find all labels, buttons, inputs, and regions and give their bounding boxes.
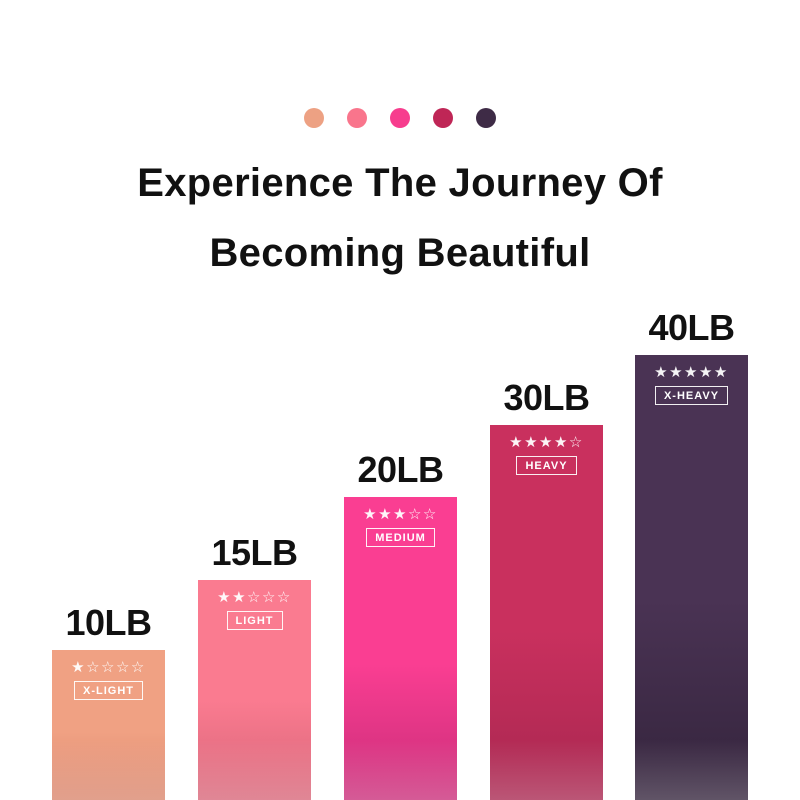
bar-badge: ★★☆☆☆LIGHT — [198, 590, 311, 630]
bar-bottom-fade — [344, 740, 457, 800]
bar-bottom-fade — [52, 740, 165, 800]
bar-bottom-fade — [635, 740, 748, 800]
product-infographic: Experience The Journey Of Becoming Beaut… — [0, 0, 800, 800]
bar-value-label: 10LB — [65, 602, 151, 644]
bar-badge: ★★★☆☆MEDIUM — [344, 507, 457, 547]
star-rating-icon: ★★☆☆☆ — [217, 590, 292, 606]
bar-value-label: 40LB — [648, 307, 734, 349]
bar-value-label: 30LB — [503, 377, 589, 419]
bar-group-heavy[interactable]: 30LB★★★★☆HEAVY — [490, 425, 603, 800]
bar-badge: ★★★★★X-HEAVY — [635, 365, 748, 405]
tier-label: X-HEAVY — [655, 386, 728, 405]
bar-group-medium[interactable]: 20LB★★★☆☆MEDIUM — [344, 497, 457, 800]
bar-value-label: 15LB — [211, 532, 297, 574]
bar-value-label: 20LB — [357, 449, 443, 491]
star-rating-icon: ★★★★☆ — [509, 435, 584, 451]
resistance-band-bar-chart: 10LB★☆☆☆☆X-LIGHT15LB★★☆☆☆LIGHT20LB★★★☆☆M… — [0, 0, 800, 800]
bar-fill: ★★★☆☆MEDIUM — [344, 497, 457, 800]
bar-badge: ★★★★☆HEAVY — [490, 435, 603, 475]
bar-badge: ★☆☆☆☆X-LIGHT — [52, 660, 165, 700]
bar-bottom-fade — [198, 740, 311, 800]
bar-fill: ★★★★☆HEAVY — [490, 425, 603, 800]
bar-bottom-fade — [490, 740, 603, 800]
bar-group-x-heavy[interactable]: 40LB★★★★★X-HEAVY — [635, 355, 748, 800]
star-rating-icon: ★★★★★ — [654, 365, 729, 381]
tier-label: HEAVY — [516, 456, 576, 475]
bar-group-x-light[interactable]: 10LB★☆☆☆☆X-LIGHT — [52, 650, 165, 800]
bar-fill: ★☆☆☆☆X-LIGHT — [52, 650, 165, 800]
star-rating-icon: ★☆☆☆☆ — [71, 660, 146, 676]
tier-label: X-LIGHT — [74, 681, 143, 700]
bar-group-light[interactable]: 15LB★★☆☆☆LIGHT — [198, 580, 311, 800]
tier-label: MEDIUM — [366, 528, 435, 547]
bar-fill: ★★☆☆☆LIGHT — [198, 580, 311, 800]
bar-fill: ★★★★★X-HEAVY — [635, 355, 748, 800]
star-rating-icon: ★★★☆☆ — [363, 507, 438, 523]
tier-label: LIGHT — [227, 611, 283, 630]
